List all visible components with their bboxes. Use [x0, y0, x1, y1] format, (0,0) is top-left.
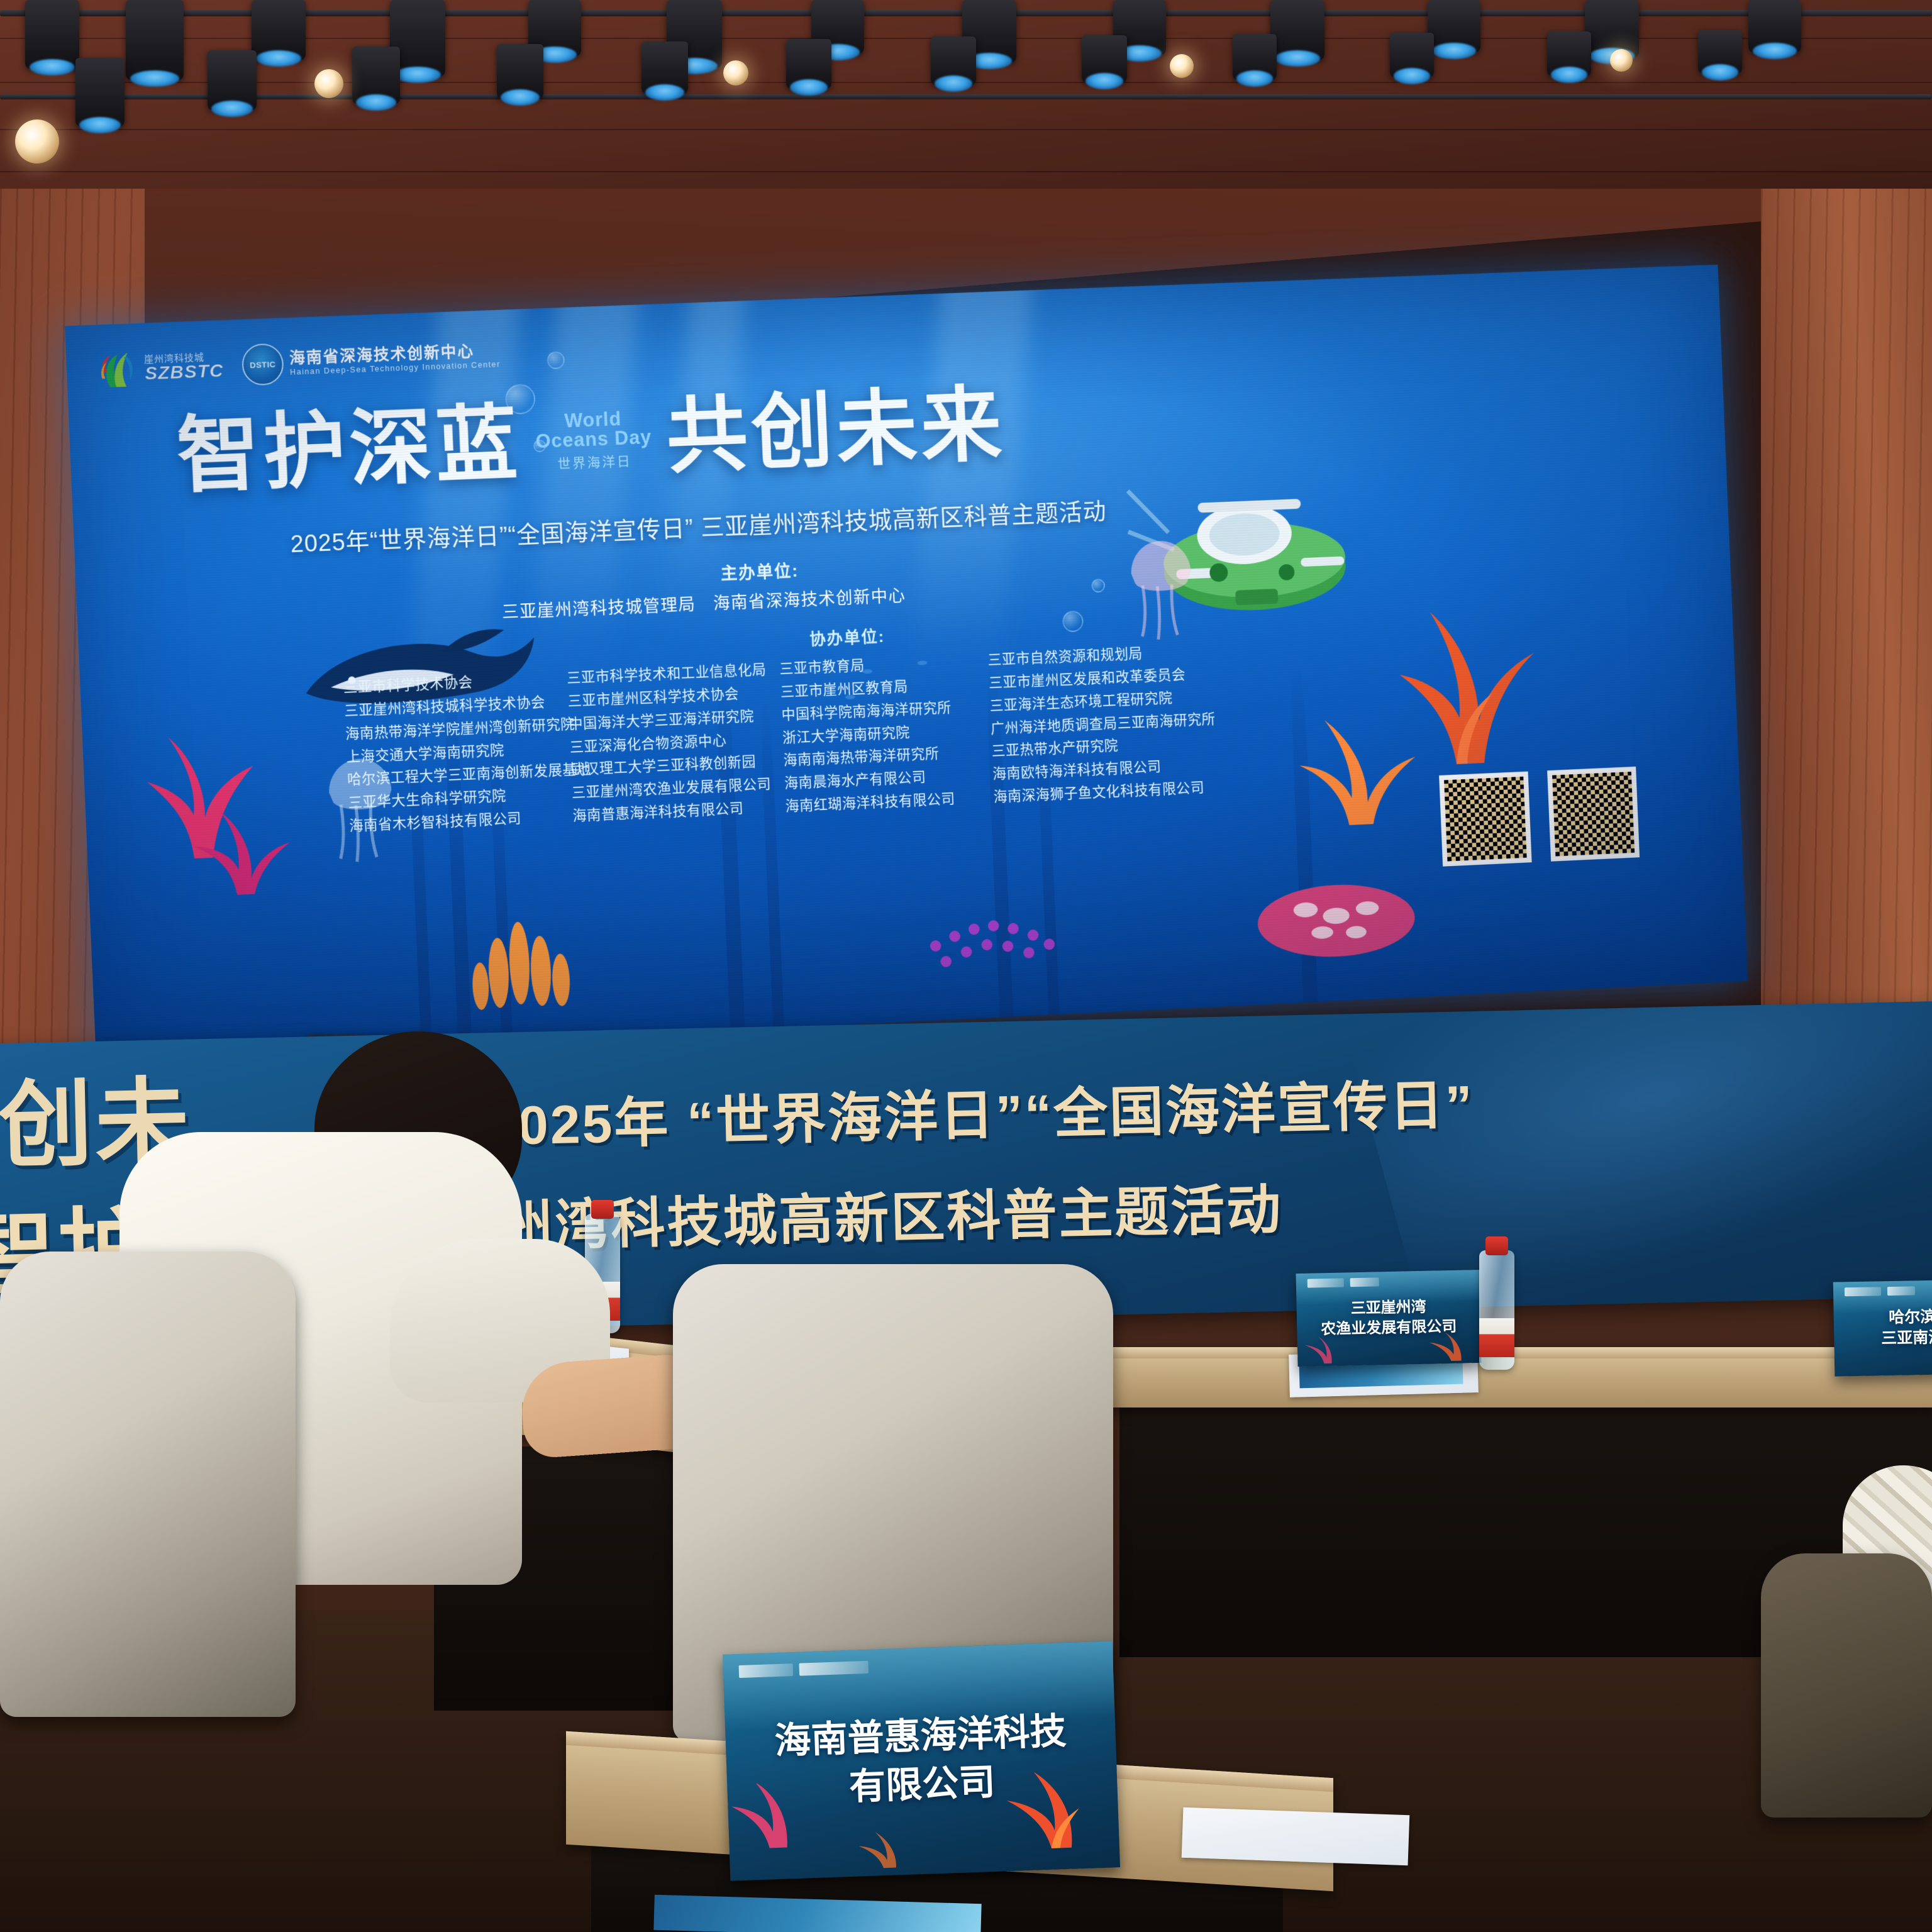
world-oceans-day-block: World Oceans Day 世界海洋日 — [535, 408, 653, 483]
anemone-icon — [458, 900, 587, 1012]
stage-light-icon — [1082, 35, 1127, 83]
wod-line2: Oceans Day — [535, 428, 652, 452]
banner-line1: 2025年 “世界海洋日”“全国海洋宣传日” — [486, 1060, 1475, 1160]
stage-light-icon — [1748, 0, 1801, 53]
dstic-seal-icon: DSTIC — [241, 343, 284, 386]
stage-light-icon — [252, 0, 306, 60]
name-card-middle-line2: 农渔业发展有限公司 — [1321, 1317, 1457, 1340]
co-organizer-column-1: 三亚市科学技术协会 三亚崖州湾科技城科学技术协会 海南热带海洋学院崖州湾创新研究… — [343, 669, 573, 837]
stage-light-icon — [25, 0, 79, 69]
screen-main-title: 智护深蓝 World Oceans Day 世界海洋日 共创未来 — [175, 383, 1007, 497]
name-card-front-line1: 海南普惠海洋科技 — [774, 1707, 1067, 1766]
stage-light-icon — [1390, 33, 1434, 78]
qr-code-right — [1547, 767, 1640, 862]
name-card-front: 海南普惠海洋科技 有限公司 — [723, 1641, 1120, 1880]
spot-light-icon — [1170, 54, 1194, 78]
table-right-edge — [1107, 1347, 1932, 1358]
truss-pipe — [0, 94, 1932, 99]
coral-icon — [172, 782, 296, 900]
water-bottle-icon — [1479, 1250, 1514, 1370]
led-display-wall: 崖州湾科技城 SZBSTC DSTIC 海南省深海技术创新中心 Hainan D… — [65, 265, 1748, 1062]
name-card-middle: 三亚崖州湾 农渔业发展有限公司 — [1296, 1270, 1481, 1367]
qr-code-left — [1439, 772, 1531, 867]
stage-light-icon — [1233, 34, 1277, 80]
spot-light-icon — [314, 69, 343, 98]
stage-light-icon — [641, 42, 688, 94]
coral-icon — [855, 1831, 913, 1870]
name-card-right: 哈尔滨工程 三亚南海创新 — [1833, 1279, 1932, 1376]
szbstc-mark-icon — [99, 350, 140, 390]
co-organizer-column-3: 三亚市教育局 三亚市崖州区教育局 中国科学院南海海洋研究所 浙江大学海南研究院 … — [779, 650, 994, 817]
coral-icon — [1266, 683, 1423, 831]
chair-right — [1761, 1553, 1932, 1818]
stage-light-icon — [75, 58, 125, 127]
jellyfish-icon — [1126, 531, 1197, 645]
stage-light-icon — [931, 36, 976, 86]
stage-light-icon — [1585, 0, 1639, 58]
stage-light-icon — [1698, 30, 1742, 74]
co-organizer-label: 协办单位: — [809, 624, 885, 650]
wod-line-cn: 世界海洋日 — [557, 451, 632, 472]
stage-light-icon — [352, 47, 400, 104]
coral-icon — [1302, 1335, 1347, 1365]
paper-icon — [1182, 1807, 1410, 1866]
stage-light-icon — [1547, 31, 1591, 77]
bubble-icon — [1091, 579, 1105, 593]
co-organizer-column-4: 三亚市自然资源和规划局 三亚市崖州区发展和改革委员会 三亚海洋生态环境工程研究院… — [987, 641, 1213, 808]
chair-left — [0, 1252, 296, 1717]
name-card-middle-line1: 三亚崖州湾 — [1320, 1297, 1457, 1319]
organizer-label: 主办单位: — [720, 557, 799, 585]
spot-light-icon — [723, 60, 748, 86]
bubble-icon — [1062, 611, 1084, 633]
stage-light-icon — [1428, 0, 1480, 53]
stage-light-icon — [786, 39, 831, 89]
name-card-right-line2: 三亚南海创新 — [1881, 1327, 1932, 1350]
name-card-right-line1: 哈尔滨工程 — [1880, 1306, 1932, 1329]
spot-light-icon — [1610, 49, 1633, 72]
szbstc-logo: 崖州湾科技城 SZBSTC — [99, 347, 225, 390]
screenshot-root: 崖州湾科技城 SZBSTC DSTIC 海南省深海技术创新中心 Hainan D… — [0, 0, 1932, 1932]
coral-icon — [1248, 831, 1423, 962]
szbstc-logo-en: SZBSTC — [145, 361, 225, 383]
stage-light-icon — [497, 44, 543, 99]
title-left: 智护深蓝 — [175, 402, 523, 498]
co-organizer-column-2: 三亚市科学技术和工业信息化局 三亚市崖州区科学技术协会 中国海洋大学三亚海洋研究… — [567, 660, 786, 827]
stage-light-icon — [1270, 0, 1324, 60]
spot-light-icon — [15, 119, 59, 164]
stage-light-icon — [208, 50, 257, 111]
ceiling — [0, 0, 1932, 208]
title-right: 共创未来 — [665, 383, 1007, 478]
stage-light-icon — [126, 0, 184, 80]
name-card-front-line2: 有限公司 — [775, 1756, 1069, 1814]
coral-icon — [908, 865, 1072, 984]
qr-code-row — [1439, 767, 1640, 867]
